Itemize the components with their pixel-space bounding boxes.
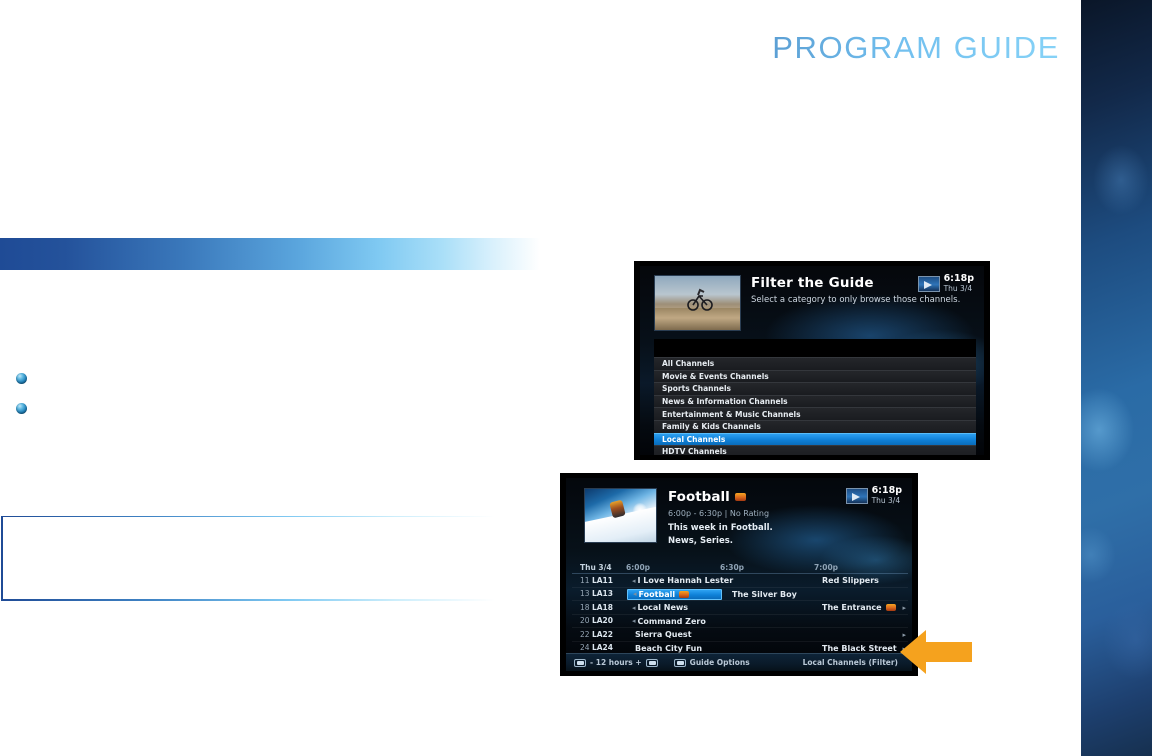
record-indicator-icon [735, 493, 746, 501]
right-edge-decoration [1081, 0, 1152, 756]
remote-button-icon [674, 659, 686, 667]
category-item-label: Movie & Events Channels [662, 372, 769, 381]
hours-control[interactable]: - 12 hours + [574, 658, 658, 667]
guide-cell-label: Beach City Fun [635, 644, 702, 653]
record-indicator-icon [886, 604, 896, 611]
category-filter-list[interactable]: All ChannelsMovie & Events ChannelsSport… [654, 339, 976, 455]
note-callout-box [1, 516, 495, 601]
guide-cell[interactable]: The Silver Boy [727, 589, 837, 601]
guide-cell-label: Red Slippers [822, 576, 879, 585]
category-item-label: Family & Kids Channels [662, 422, 761, 431]
guide-time-slot: 6:00p [626, 563, 720, 572]
bicycle-icon [687, 286, 713, 312]
guide-cell-selected[interactable]: ◂Football [627, 589, 722, 601]
remote-button-icon [574, 659, 586, 667]
guide-day-label: Thu 3/4 [572, 563, 626, 572]
filter-screen-header: Filter the Guide Select a category to on… [640, 266, 984, 339]
guide-cell[interactable]: The Entrance [817, 602, 912, 614]
continues-left-icon: ◂ [632, 604, 636, 612]
active-filter-status: Local Channels (Filter) [803, 658, 904, 667]
guide-channel-row[interactable]: 20 LA20◂Command Zero [572, 615, 908, 629]
callout-arrow-icon [900, 626, 972, 678]
category-item-label: Local Channels [662, 435, 725, 444]
filter-guide-screenshot: Filter the Guide Select a category to on… [634, 261, 990, 460]
filter-screen-body: Filter the Guide Select a category to on… [640, 266, 984, 455]
guide-cell-label: Football [639, 590, 676, 599]
continues-left-icon: ◂ [632, 577, 636, 585]
guide-cell[interactable]: Red Slippers [817, 575, 912, 587]
snowboarder-figure [609, 500, 625, 519]
guide-cell-label: Sierra Quest [635, 630, 692, 639]
tv-monitor-icon [846, 488, 868, 504]
channel-label: 22 LA22 [572, 630, 627, 639]
guide-row-cells: ◂I Love Hannah LesterRed Slippers [627, 574, 908, 587]
program-guide-screenshot: Football 6:00p - 6:30p | No Rating This … [560, 473, 918, 676]
clock-widget: 6:18p Thu 3/4 [918, 274, 974, 293]
program-description-line1: This week in Football. [668, 523, 773, 533]
category-item-label: All Channels [662, 359, 714, 368]
guide-screen-body: Football 6:00p - 6:30p | No Rating This … [566, 478, 912, 671]
clock-time: 6:18p [872, 486, 902, 496]
guide-cell[interactable]: ◂Command Zero [627, 616, 785, 628]
guide-cell-label: I Love Hannah Lester [638, 576, 734, 585]
continues-left-icon: ◂ [632, 617, 636, 625]
guide-row-cells: Sierra Quest▸ [627, 628, 908, 641]
program-description-line2: News, Series. [668, 536, 733, 546]
section-heading-text [0, 238, 540, 250]
guide-options-control[interactable]: Guide Options [674, 658, 750, 667]
guide-options-label: Guide Options [690, 658, 750, 667]
remote-button-icon [646, 659, 658, 667]
guide-rows-container[interactable]: 11 LA11◂I Love Hannah LesterRed Slippers… [572, 574, 908, 655]
clock-date: Thu 3/4 [872, 496, 902, 505]
list-item [16, 400, 516, 430]
category-item[interactable]: News & Information Channels [654, 395, 976, 408]
clock-date: Thu 3/4 [944, 284, 974, 293]
guide-channel-row[interactable]: 11 LA11◂I Love Hannah LesterRed Slippers [572, 574, 908, 588]
channel-label: 18 LA18 [572, 603, 627, 612]
continues-left-icon: ◂ [633, 590, 637, 598]
category-item[interactable]: Sports Channels [654, 382, 976, 395]
guide-cell[interactable]: Sierra Quest [630, 629, 788, 641]
guide-row-cells: ◂Local NewsThe Entrance▸ [627, 601, 908, 614]
program-title: Football [668, 489, 730, 505]
guide-channel-row[interactable]: 13 LA13◂FootballThe Silver Boy [572, 588, 908, 602]
list-item [16, 370, 516, 400]
hours-label: - 12 hours + [590, 658, 642, 667]
tv-monitor-icon [918, 276, 940, 292]
guide-cell-label: Local News [638, 603, 689, 612]
clock-text-group: 6:18p Thu 3/4 [872, 486, 902, 505]
clock-time: 6:18p [944, 274, 974, 284]
guide-channel-row[interactable]: 18 LA18◂Local NewsThe Entrance▸ [572, 601, 908, 615]
page-title: PROGRAM GUIDE [772, 30, 1060, 66]
bullet-sphere-icon [16, 403, 27, 414]
guide-footer-bar[interactable]: - 12 hours + Guide Options Local Channel… [566, 653, 912, 671]
guide-cell-label: The Black Street [822, 644, 897, 653]
program-title-row: Football [668, 489, 746, 505]
category-item[interactable]: Local Channels [654, 433, 976, 446]
category-list-spacer [654, 339, 976, 357]
preview-thumbnail-snowboard [584, 488, 657, 543]
category-item[interactable]: Entertainment & Music Channels [654, 407, 976, 420]
channel-label: 11 LA11 [572, 576, 627, 585]
category-item[interactable]: All Channels [654, 357, 976, 370]
filter-screen-title: Filter the Guide [751, 275, 874, 291]
guide-row-cells: ◂Command Zero [627, 615, 908, 628]
note-box-top-border [1, 516, 495, 517]
filter-screen-subtitle: Select a category to only browse those c… [751, 295, 960, 305]
category-item-label: Sports Channels [662, 384, 731, 393]
section-heading-bar [0, 238, 540, 270]
guide-channel-row[interactable]: 22 LA22Sierra Quest▸ [572, 628, 908, 642]
channel-label: 24 LA24 [572, 643, 627, 652]
guide-row-cells: ◂FootballThe Silver Boy [627, 588, 908, 601]
guide-cell-label: The Entrance [822, 603, 882, 612]
channel-label: 20 LA20 [572, 616, 627, 625]
clock-widget: 6:18p Thu 3/4 [846, 486, 902, 505]
guide-time-slot: 7:00p [814, 563, 908, 572]
guide-time-slot: 6:30p [720, 563, 814, 572]
guide-time-header: Thu 3/4 6:00p6:30p7:00p [572, 561, 908, 574]
category-item-label: Entertainment & Music Channels [662, 410, 801, 419]
clock-text-group: 6:18p Thu 3/4 [944, 274, 974, 293]
category-item-label: News & Information Channels [662, 397, 788, 406]
category-item-label: HDTV Channels [662, 447, 727, 455]
category-item[interactable]: HDTV Channels [654, 445, 976, 455]
preview-thumbnail-biking [654, 275, 741, 331]
category-item[interactable]: Family & Kids Channels [654, 420, 976, 433]
page-root: PROGRAM GUIDE [0, 0, 1152, 756]
guide-grid[interactable]: Thu 3/4 6:00p6:30p7:00p 11 LA11◂I Love H… [572, 561, 908, 653]
guide-cell[interactable]: ◂Local News [627, 602, 785, 614]
note-box-bottom-border [1, 599, 495, 601]
bullet-sphere-icon [16, 373, 27, 384]
body-copy [16, 288, 516, 300]
channel-label: 13 LA13 [572, 589, 627, 598]
bullet-list [16, 370, 516, 430]
note-text [1, 516, 495, 540]
guide-cell-label: The Silver Boy [732, 590, 797, 599]
note-box-left-border [1, 516, 3, 601]
program-meta: 6:00p - 6:30p | No Rating [668, 509, 769, 518]
guide-cell[interactable]: ◂I Love Hannah Lester [627, 575, 785, 587]
more-right-icon[interactable]: ▸ [902, 604, 906, 612]
record-indicator-icon [679, 591, 689, 598]
category-item[interactable]: Movie & Events Channels [654, 370, 976, 383]
guide-cell-label: Command Zero [638, 617, 706, 626]
